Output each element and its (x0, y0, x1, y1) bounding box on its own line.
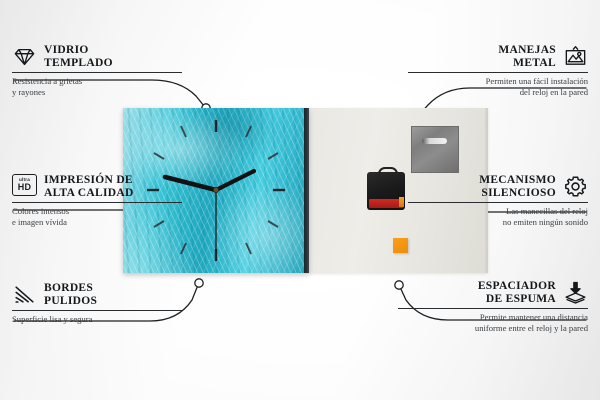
feature-title: IMPRESIÓN DE ALTA CALIDAD (44, 174, 134, 199)
mechanism-loop (378, 167, 398, 178)
polished-edges-icon (12, 282, 37, 307)
divider (12, 310, 182, 311)
feature-manejas-metal: MANEJAS METAL Permiten una fácil instala… (408, 44, 588, 97)
feature-description: Colores intensos e imagen vívida (12, 206, 182, 227)
product-infographic: VIDRIO TEMPLADO Resistencia a grietas y … (0, 0, 600, 400)
divider (408, 202, 588, 203)
feature-title: VIDRIO TEMPLADO (44, 44, 113, 69)
gear-icon (563, 174, 588, 199)
feature-description: Permiten una fácil instalación del reloj… (408, 76, 588, 97)
feature-description: Las manecillas del reloj no emiten ningú… (408, 206, 588, 227)
feature-description: Superficie lisa y segura (12, 314, 182, 325)
feature-title: MECANISMO SILENCIOSO (479, 174, 556, 199)
connector-endpoint (195, 279, 203, 287)
divider (398, 308, 588, 309)
ultra-hd-icon-main-text: HD (18, 183, 32, 192)
feature-mecanismo-silencioso: MECANISMO SILENCIOSO Las manecillas del … (408, 174, 588, 227)
clock-center-pin (213, 187, 218, 192)
diamond-icon (12, 44, 37, 69)
hanger-slot (422, 138, 447, 144)
feature-impresion-alta-calidad: ultra HD IMPRESIÓN DE ALTA CALIDAD Color… (12, 174, 182, 227)
foam-spacer (393, 238, 408, 253)
battery (369, 199, 403, 208)
feature-title: MANEJAS METAL (498, 44, 556, 69)
feature-vidrio-templado: VIDRIO TEMPLADO Resistencia a grietas y … (12, 44, 182, 97)
ultra-hd-icon: ultra HD (12, 174, 37, 199)
foam-spacer-icon (563, 280, 588, 305)
metal-hanger-plate (411, 126, 459, 173)
feature-description: Permite mantener una distancia uniforme … (398, 312, 588, 333)
feature-description: Resistencia a grietas y rayones (12, 76, 182, 97)
framed-picture-hanger-icon (563, 44, 588, 69)
feature-bordes-pulidos: BORDES PULIDOS Superficie lisa y segura (12, 282, 182, 325)
divider (12, 72, 182, 73)
clock-mechanism (367, 172, 405, 210)
divider (408, 72, 588, 73)
feature-title: ESPACIADOR DE ESPUMA (478, 280, 556, 305)
feature-espaciador-de-espuma: ESPACIADOR DE ESPUMA Permite mantener un… (398, 280, 588, 333)
divider (12, 202, 182, 203)
feature-title: BORDES PULIDOS (44, 282, 97, 307)
